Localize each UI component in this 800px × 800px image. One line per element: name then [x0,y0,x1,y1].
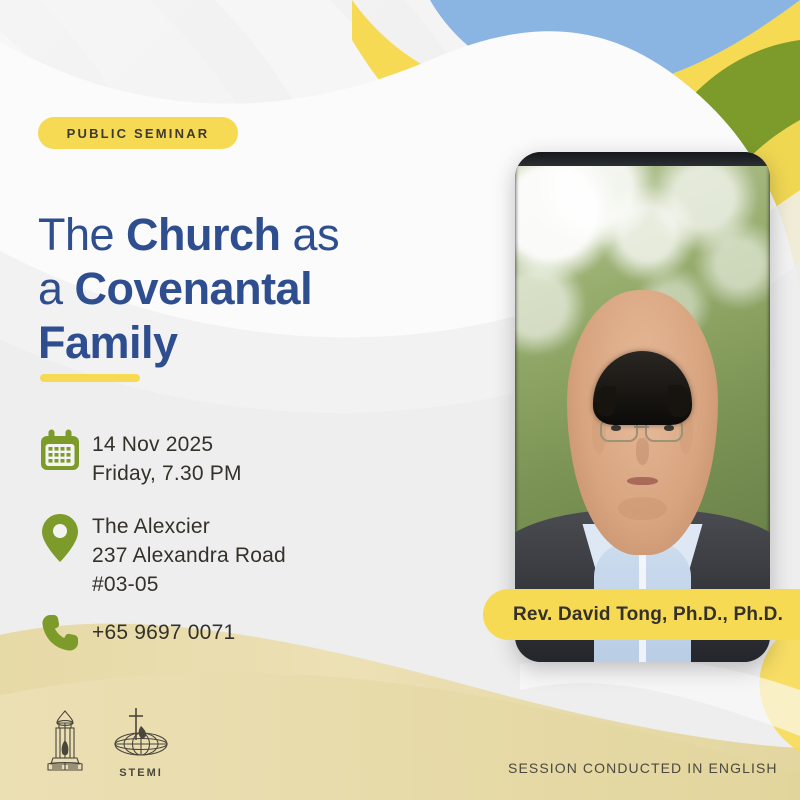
badge-label: PUBLIC SEMINAR [67,126,210,141]
detail-row-venue: The Alexcier 237 Alexandra Road #03-05 [36,512,286,599]
detail-line: 237 Alexandra Road [92,541,286,570]
detail-row-date: 14 Nov 2025 Friday, 7.30 PM [36,428,242,488]
title-line-2: a Covenantal [38,262,468,316]
photo-frame-top-bar [515,152,770,166]
detail-line: #03-05 [92,570,286,599]
detail-text-phone: +65 9697 0071 [84,612,235,647]
photo-head [567,290,717,555]
photo-nose [636,438,650,465]
detail-text-date: 14 Nov 2025 Friday, 7.30 PM [84,428,242,488]
detail-line: Friday, 7.30 PM [92,459,242,488]
speaker-name-label: Rev. David Tong, Ph.D., Ph.D. [513,604,783,626]
footer-language-note: SESSION CONDUCTED IN ENGLISH [508,760,778,776]
phone-icon [36,612,84,654]
detail-line: +65 9697 0071 [92,618,235,647]
page-title: The Church asa CovenantalFamily [38,208,468,370]
detail-line: 14 Nov 2025 [92,430,242,459]
photo-mouth [627,477,657,485]
speaker-portrait-photo [515,152,770,662]
calendar-icon [36,428,84,474]
title-line-3: Family [38,316,468,370]
detail-text-venue: The Alexcier 237 Alexandra Road #03-05 [84,512,286,599]
lamp-and-book-logo [38,708,92,779]
title-underline-rule [40,374,140,382]
photo-hair [593,351,692,425]
title-line-1: The Church as [38,208,468,262]
organization-logos: STEMI [38,706,172,779]
title-line: The Church asa CovenantalFamily [38,208,468,370]
stemi-globe-cross-logo: STEMI [110,706,172,779]
public-seminar-badge: PUBLIC SEMINAR [38,117,238,149]
speaker-name-banner: Rev. David Tong, Ph.D., Ph.D. [483,589,800,640]
photo-chin [618,497,666,521]
detail-line: The Alexcier [92,512,286,541]
detail-row-phone: +65 9697 0071 [36,612,235,654]
stemi-logo-caption: STEMI [110,767,172,779]
speaker-photo-card [515,152,770,662]
seminar-poster: PUBLIC SEMINAR The Church asa Covenantal… [0,0,800,800]
location-pin-icon [36,512,84,564]
